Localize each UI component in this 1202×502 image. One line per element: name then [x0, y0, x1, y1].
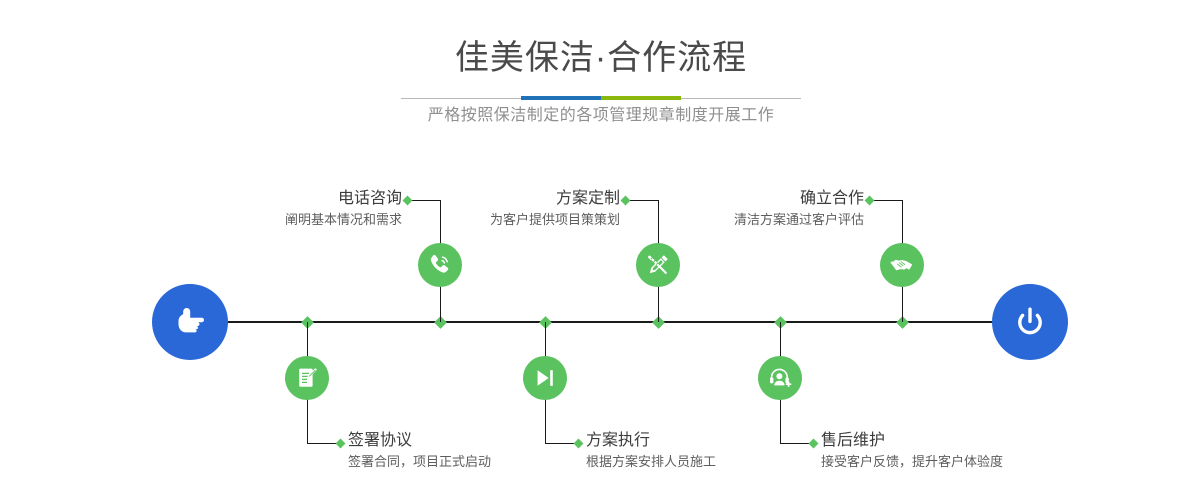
- step-3-node[interactable]: [636, 243, 680, 287]
- document-edit-icon: [294, 365, 320, 391]
- step-2-title: 签署协议: [348, 430, 608, 452]
- step-6-desc: 接受客户反馈，提升客户体验度: [821, 452, 1121, 472]
- step-5-title: 确立合作: [586, 188, 864, 210]
- step-4-node[interactable]: [523, 356, 567, 400]
- step-3-desc: 为客户提供项目策策划: [340, 210, 620, 230]
- step-2-label-marker: [336, 438, 346, 448]
- flowchart-canvas: 佳美保洁·合作流程 严格按照保洁制定的各项管理规章制度开展工作: [0, 0, 1202, 502]
- step-2-leader: [307, 443, 339, 444]
- step-3-title: 方案定制: [340, 188, 620, 210]
- power-icon: [1010, 302, 1050, 342]
- step-2-label: 签署协议 签署合同，项目正式启动: [348, 430, 608, 472]
- step-5-label-marker: [865, 195, 875, 205]
- step-2-node[interactable]: [285, 356, 329, 400]
- pencil-ruler-icon: [645, 252, 671, 278]
- step-6-title: 售后维护: [821, 430, 1121, 452]
- divider-green-segment: [601, 96, 681, 100]
- headset-add-icon: [767, 365, 793, 391]
- phone-ring-icon: [427, 252, 453, 278]
- step-1-node[interactable]: [418, 243, 462, 287]
- step-4-leader: [545, 443, 577, 444]
- step-3-label: 方案定制 为客户提供项目策策划: [340, 188, 620, 230]
- title-divider: [401, 96, 801, 100]
- handshake-icon: [889, 252, 915, 278]
- end-node[interactable]: [992, 284, 1068, 360]
- step-6-label: 售后维护 接受客户反馈，提升客户体验度: [821, 430, 1121, 472]
- play-skip-icon: [532, 365, 558, 391]
- step-2-desc: 签署合同，项目正式启动: [348, 452, 608, 472]
- step-4-label: 方案执行 根据方案安排人员施工: [586, 430, 856, 472]
- start-node[interactable]: [152, 284, 228, 360]
- header: 佳美保洁·合作流程: [0, 0, 1202, 78]
- step-4-desc: 根据方案安排人员施工: [586, 452, 856, 472]
- step-5-label: 确立合作 清洁方案通过客户评估: [586, 188, 864, 230]
- step-5-desc: 清洁方案通过客户评估: [586, 210, 864, 230]
- page-title: 佳美保洁·合作流程: [0, 38, 1202, 78]
- page-subtitle: 严格按照保洁制定的各项管理规章制度开展工作: [0, 104, 1202, 128]
- step-6-node[interactable]: [758, 356, 802, 400]
- step-6-leader: [780, 443, 812, 444]
- step-5-leader: [871, 200, 902, 201]
- pointing-hand-icon: [170, 302, 210, 342]
- divider-blue-segment: [521, 96, 601, 100]
- step-5-node[interactable]: [880, 243, 924, 287]
